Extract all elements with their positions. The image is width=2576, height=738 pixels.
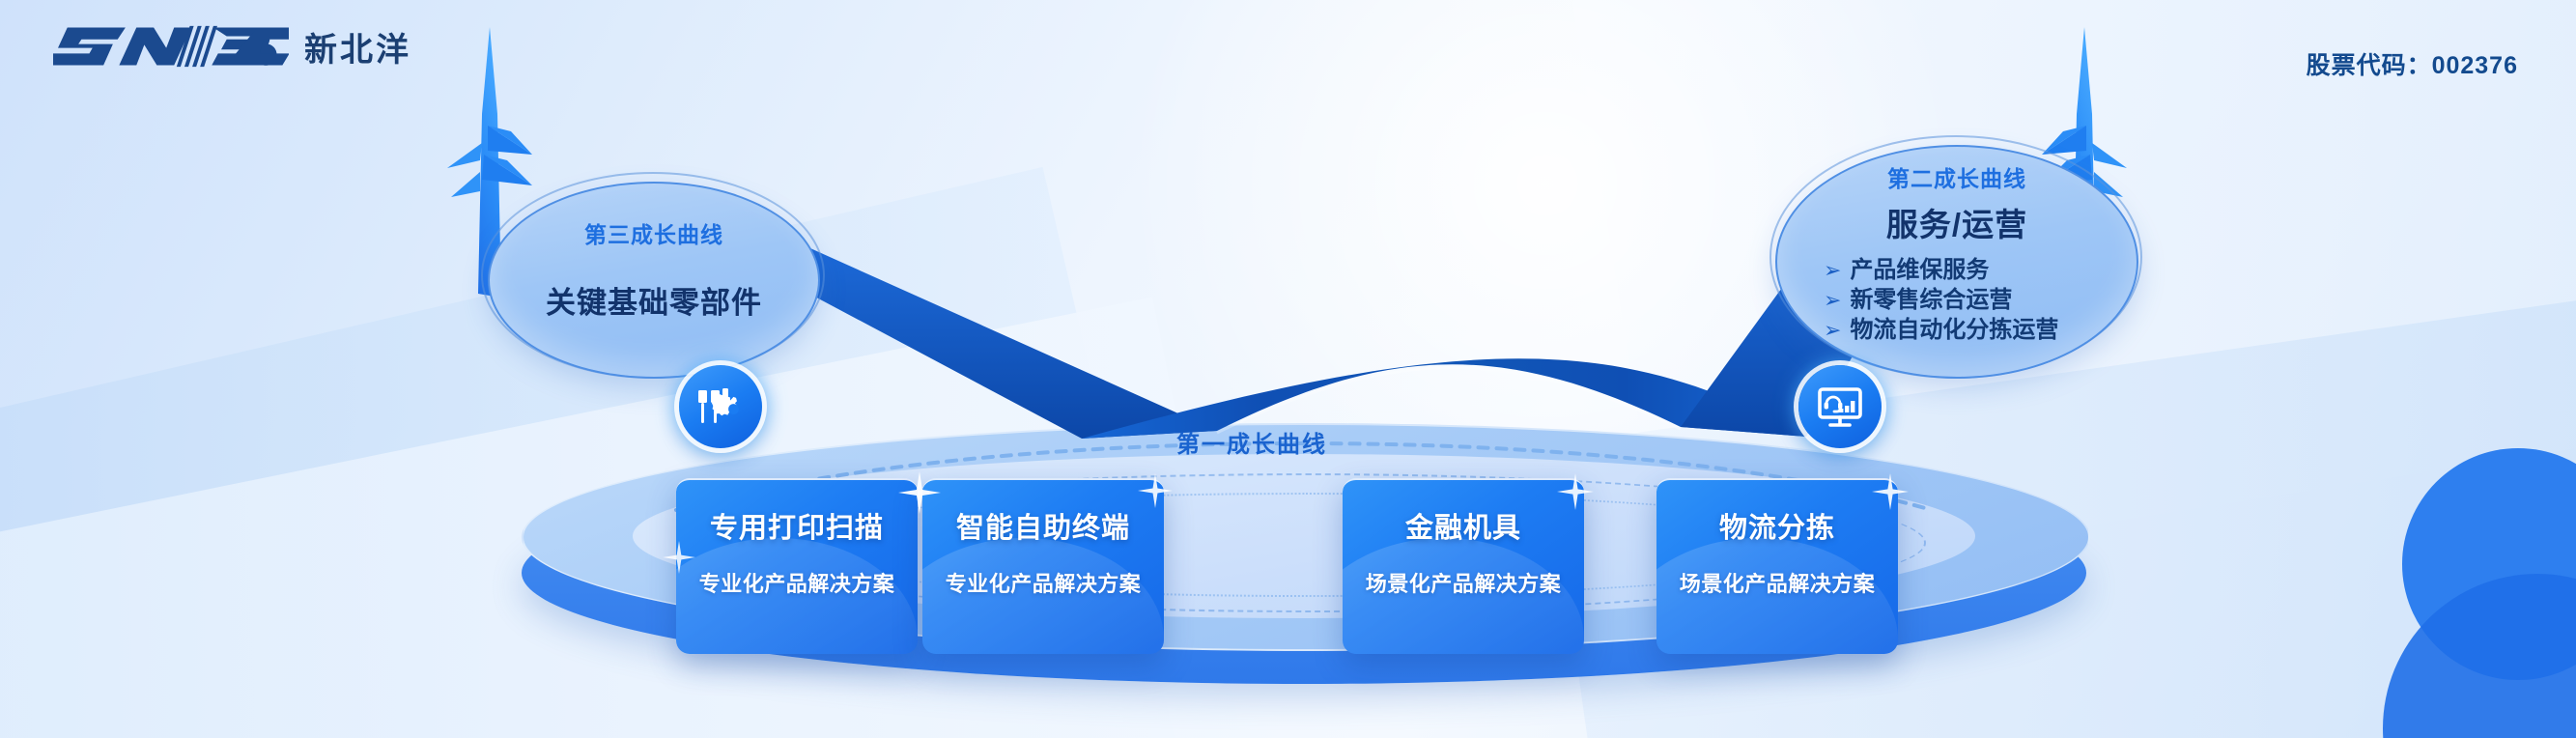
snbc-logo-icon: [53, 21, 289, 71]
sliders-gear-icon-button[interactable]: [679, 365, 762, 448]
chevron-right-icon: ➢: [1824, 320, 1841, 341]
product-card-1[interactable]: 专用打印扫描 专业化产品解决方案: [676, 478, 918, 654]
stock-code-label: 股票代码：002376: [2307, 46, 2518, 81]
card-title: 智能自助终端: [922, 505, 1164, 546]
list-item: ➢ 产品维保服务: [1824, 255, 2137, 285]
service-monitor-headset-chart-icon: [1814, 381, 1866, 433]
card-subtitle: 专业化产品解决方案: [676, 567, 918, 598]
service-monitor-icon-button[interactable]: [1798, 365, 1882, 448]
first-curve-label: 第一成长曲线: [1176, 425, 1327, 459]
card-subtitle: 专业化产品解决方案: [922, 567, 1164, 598]
bullet-label: 物流自动化分拣运营: [1850, 315, 2058, 345]
product-card-2[interactable]: 智能自助终端 专业化产品解决方案: [922, 478, 1164, 654]
bullet-label: 产品维保服务: [1850, 255, 1989, 285]
sliders-gear-icon: [694, 381, 747, 433]
third-curve-kicker: 第三成长曲线: [490, 216, 818, 249]
list-item: ➢ 新零售综合运营: [1824, 285, 2137, 315]
card-title: 金融机具: [1343, 505, 1584, 546]
product-card-4[interactable]: 物流分拣 场景化产品解决方案: [1656, 478, 1898, 654]
card-title: 物流分拣: [1656, 505, 1898, 546]
brand-logo-cn: 新北洋: [304, 23, 411, 71]
bullet-label: 新零售综合运营: [1850, 285, 2012, 315]
chevron-right-icon: ➢: [1824, 290, 1841, 311]
card-subtitle: 场景化产品解决方案: [1656, 567, 1898, 598]
brand-logo[interactable]: 新北洋: [53, 21, 411, 71]
second-curve-bullet-list: ➢ 产品维保服务 ➢ 新零售综合运营 ➢ 物流自动化分拣运营: [1777, 255, 2137, 346]
second-curve-kicker: 第二成长曲线: [1777, 160, 2137, 193]
second-curve-title: 服务/运营: [1777, 199, 2137, 245]
chevron-right-icon: ➢: [1824, 260, 1841, 281]
card-title: 专用打印扫描: [676, 505, 918, 546]
third-curve-title: 关键基础零部件: [490, 278, 818, 322]
third-curve-bubble[interactable]: 第三成长曲线 关键基础零部件: [488, 182, 820, 379]
product-card-3[interactable]: 金融机具 场景化产品解决方案: [1343, 478, 1584, 654]
infographic-canvas: 新北洋 股票代码：002376: [0, 0, 2576, 738]
second-curve-bubble[interactable]: 第二成长曲线 服务/运营 ➢ 产品维保服务 ➢ 新零售综合运营 ➢ 物流自动化分…: [1775, 145, 2138, 379]
list-item: ➢ 物流自动化分拣运营: [1824, 315, 2137, 345]
card-subtitle: 场景化产品解决方案: [1343, 567, 1584, 598]
